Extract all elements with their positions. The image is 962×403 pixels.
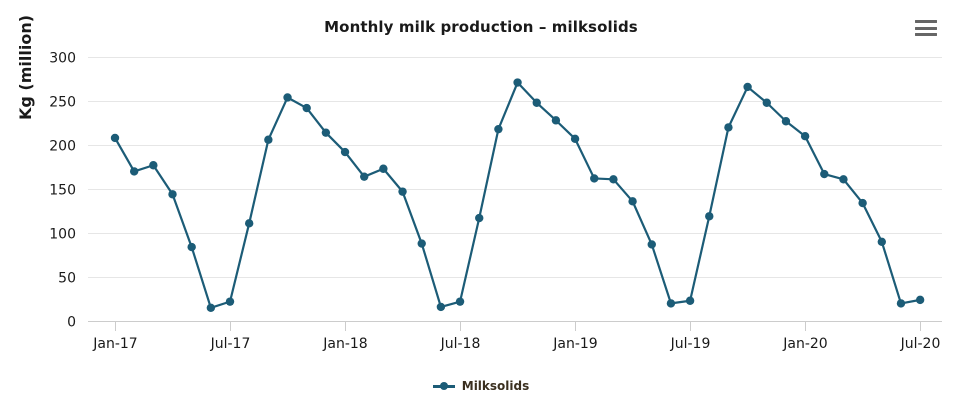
data-point[interactable] — [648, 240, 656, 248]
data-point[interactable] — [168, 190, 176, 198]
data-point[interactable] — [245, 219, 253, 227]
x-tick-label-Jul-18: Jul-18 — [440, 336, 481, 352]
data-point[interactable] — [839, 175, 847, 183]
data-point[interactable] — [494, 125, 502, 133]
data-point[interactable] — [878, 238, 886, 246]
data-point[interactable] — [226, 297, 234, 305]
data-point[interactable] — [130, 167, 138, 175]
y-tick-label-200: 200 — [49, 139, 76, 155]
data-point[interactable] — [283, 93, 291, 101]
x-tick-label-Jan-19: Jan-19 — [552, 336, 597, 352]
legend-dot — [440, 382, 448, 390]
data-point[interactable] — [322, 128, 330, 136]
data-point[interactable] — [916, 296, 924, 304]
chart-container: Monthly milk production – milksolids Kg … — [0, 0, 962, 403]
legend-marker-milksolids — [433, 381, 455, 391]
data-point[interactable] — [858, 199, 866, 207]
data-point[interactable] — [360, 172, 368, 180]
x-tick-label-Jan-20: Jan-20 — [782, 336, 827, 352]
data-point[interactable] — [475, 214, 483, 222]
x-tick-label-Jul-20: Jul-20 — [900, 336, 941, 352]
data-point[interactable] — [341, 148, 349, 156]
series-line-milksolids[interactable] — [115, 83, 920, 308]
data-point[interactable] — [686, 297, 694, 305]
legend-label-milksolids: Milksolids — [462, 379, 530, 393]
y-tick-label-250: 250 — [49, 95, 76, 111]
data-point[interactable] — [264, 136, 272, 144]
x-tick-label-Jan-18: Jan-18 — [322, 336, 367, 352]
data-point[interactable] — [207, 304, 215, 312]
data-point[interactable] — [724, 123, 732, 131]
plot-area: 050100150200250300Jan-17Jul-17Jan-18Jul-… — [0, 0, 962, 403]
data-point[interactable] — [533, 99, 541, 107]
data-point[interactable] — [628, 197, 636, 205]
data-point[interactable] — [149, 161, 157, 169]
data-point[interactable] — [187, 243, 195, 251]
data-point[interactable] — [590, 174, 598, 182]
x-tick-label-Jul-19: Jul-19 — [670, 336, 711, 352]
y-tick-label-300: 300 — [49, 51, 76, 67]
data-point[interactable] — [705, 212, 713, 220]
y-tick-label-0: 0 — [67, 315, 76, 331]
data-point[interactable] — [456, 297, 464, 305]
data-point[interactable] — [743, 83, 751, 91]
data-point[interactable] — [552, 116, 560, 124]
data-point[interactable] — [801, 132, 809, 140]
data-point[interactable] — [418, 239, 426, 247]
data-point[interactable] — [398, 187, 406, 195]
chart-legend[interactable]: Milksolids — [0, 379, 962, 393]
data-point[interactable] — [379, 165, 387, 173]
data-point[interactable] — [437, 303, 445, 311]
y-tick-label-100: 100 — [49, 227, 76, 243]
y-tick-label-50: 50 — [58, 271, 76, 287]
data-point[interactable] — [667, 299, 675, 307]
x-tick-label-Jul-17: Jul-17 — [210, 336, 251, 352]
data-point[interactable] — [111, 134, 119, 142]
data-point[interactable] — [782, 117, 790, 125]
data-point[interactable] — [513, 78, 521, 86]
data-point[interactable] — [763, 99, 771, 107]
data-point[interactable] — [820, 170, 828, 178]
x-tick-label-Jan-17: Jan-17 — [92, 336, 137, 352]
data-point[interactable] — [609, 175, 617, 183]
y-tick-label-150: 150 — [49, 183, 76, 199]
data-point[interactable] — [303, 104, 311, 112]
data-point[interactable] — [571, 135, 579, 143]
data-point[interactable] — [897, 299, 905, 307]
